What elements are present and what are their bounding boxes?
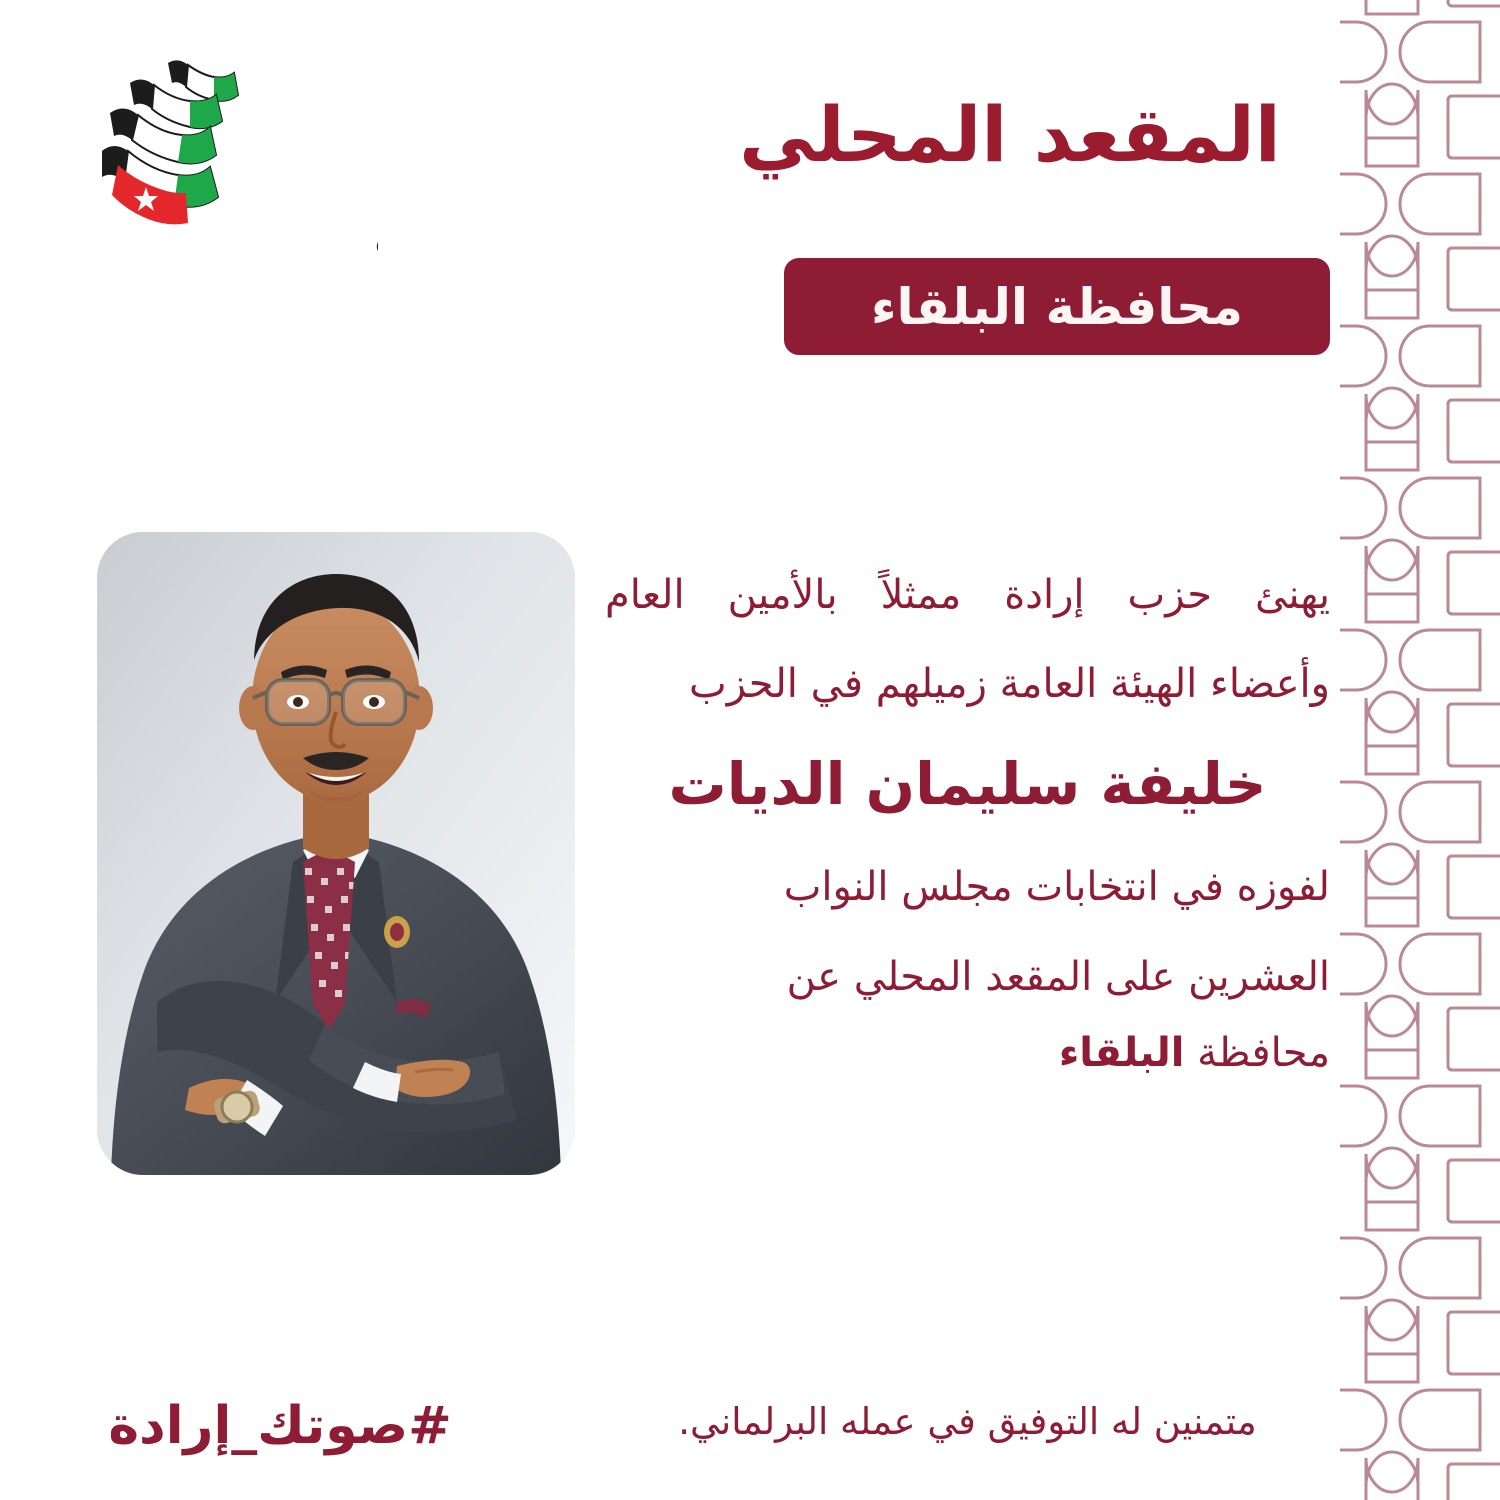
candidate-portrait bbox=[97, 532, 575, 1175]
governorate-prefix: محافظة bbox=[1184, 1030, 1330, 1076]
governorate-name: البلقاء bbox=[1059, 1030, 1185, 1076]
poster-canvas: حزب إرادة ERADAH المقعد المحلي محافظة ال… bbox=[0, 0, 1500, 1500]
logo-wordmark: حزب إرادة ERADAH bbox=[88, 215, 378, 405]
lapel-pin-icon bbox=[384, 916, 410, 948]
honoree-name: خليفة سليمان الديات bbox=[605, 750, 1330, 818]
logo-arabic-eradah: إرادة bbox=[374, 262, 378, 370]
intro-line-2: وأعضاء الهيئة العامة زميلهم في الحزب bbox=[605, 649, 1330, 720]
page-title: المقعد المحلي bbox=[690, 92, 1330, 177]
logo-arabic-hizb: حزب bbox=[374, 215, 378, 266]
closing-wish: متمنين له التوفيق في عمله البرلماني. bbox=[605, 1400, 1330, 1443]
arch-tile-pattern-icon bbox=[1340, 0, 1500, 1500]
congratulation-body: يهنئ حزب إرادة ممثلاً بالأمين العام وأعض… bbox=[605, 560, 1330, 1085]
intro-line-1: يهنئ حزب إرادة ممثلاً بالأمين العام bbox=[605, 560, 1330, 631]
logo-latin-eradah: ERADAH bbox=[88, 360, 94, 400]
governorate-badge: محافظة البلقاء bbox=[784, 258, 1330, 355]
reason-line-1: لفوزه في انتخابات مجلس النواب bbox=[605, 852, 1330, 923]
governorate-line: محافظة البلقاء bbox=[605, 1021, 1330, 1085]
campaign-hashtag: #صوتك_إرادة bbox=[100, 1396, 460, 1456]
decorative-pattern-band bbox=[1340, 0, 1500, 1500]
party-logo: حزب إرادة ERADAH bbox=[88, 55, 378, 405]
reason-line-2: العشرين على المقعد المحلي عن bbox=[605, 942, 1330, 1013]
